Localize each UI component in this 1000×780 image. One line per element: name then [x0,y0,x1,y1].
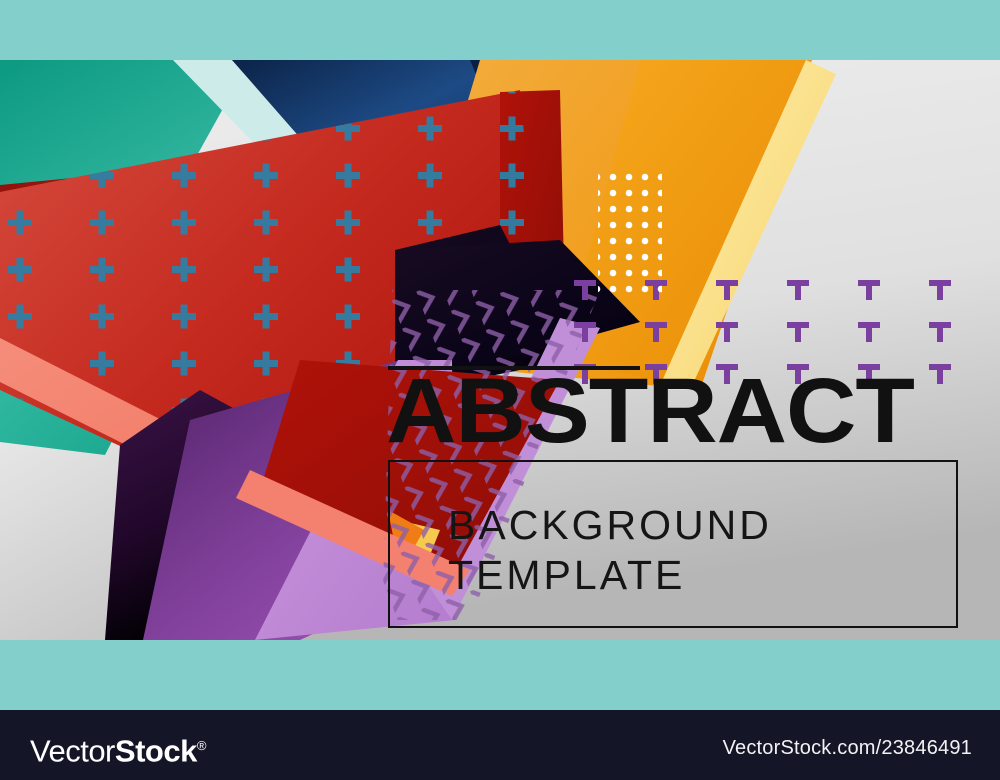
footer-bar: VectorStock® VectorStock.com/23846491 [0,710,1000,780]
screenshot-root: ABSTRACT BACKGROUND TEMPLATE VectorStock… [0,0,1000,780]
vectorstock-logo[interactable]: VectorStock® [30,730,206,766]
bottom-teal-band [0,640,1000,710]
abstract-artwork-canvas: ABSTRACT BACKGROUND TEMPLATE [0,60,1000,640]
logo-text-light: Vector [30,733,115,768]
top-teal-band [0,0,1000,60]
stock-url-label: VectorStock.com/23846491 [723,738,972,758]
pattern-dot-grid [598,172,662,300]
logo-text-bold: Stock [115,733,197,768]
abstract-composition [0,60,1000,640]
registered-trademark-icon: ® [197,738,207,753]
